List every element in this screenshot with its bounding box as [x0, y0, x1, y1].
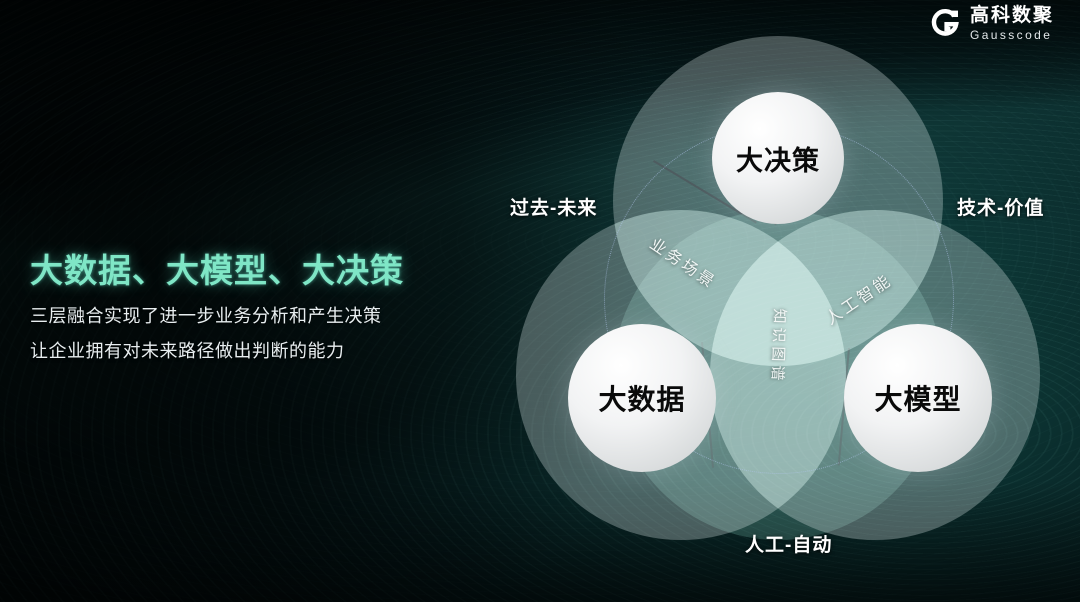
- subtitle-line-1: 三层融合实现了进一步业务分析和产生决策: [30, 307, 480, 326]
- venn-diagram: 业务场景 人工智能 知识图谱 大决策 大数据 大模型: [498, 14, 1058, 574]
- axis-label-past-future: 过去-未来: [510, 193, 597, 220]
- venn-node-decision-label: 大决策: [736, 139, 820, 178]
- axis-label-manual-auto: 人工-自动: [745, 530, 832, 557]
- venn-node-bigmodel[interactable]: 大模型: [844, 324, 992, 472]
- intersection-label-knowledge-graph: 知识图谱: [767, 308, 791, 385]
- slide-canvas: 高科数聚 Gausscode 大数据、大模型、大决策 三层融合实现了进一步业务分…: [0, 0, 1080, 602]
- axis-label-tech-value: 技术-价值: [957, 193, 1044, 220]
- venn-node-bigdata-label: 大数据: [598, 378, 685, 418]
- venn-node-decision[interactable]: 大决策: [712, 92, 844, 224]
- subtitle-line-2: 让企业拥有对未来路径做出判断的能力: [30, 342, 480, 361]
- venn-node-bigdata[interactable]: 大数据: [568, 324, 716, 472]
- venn-node-bigmodel-label: 大模型: [874, 378, 961, 418]
- headline-block: 大数据、大模型、大决策 三层融合实现了进一步业务分析和产生决策 让企业拥有对未来…: [30, 252, 480, 377]
- page-title: 大数据、大模型、大决策: [30, 252, 480, 291]
